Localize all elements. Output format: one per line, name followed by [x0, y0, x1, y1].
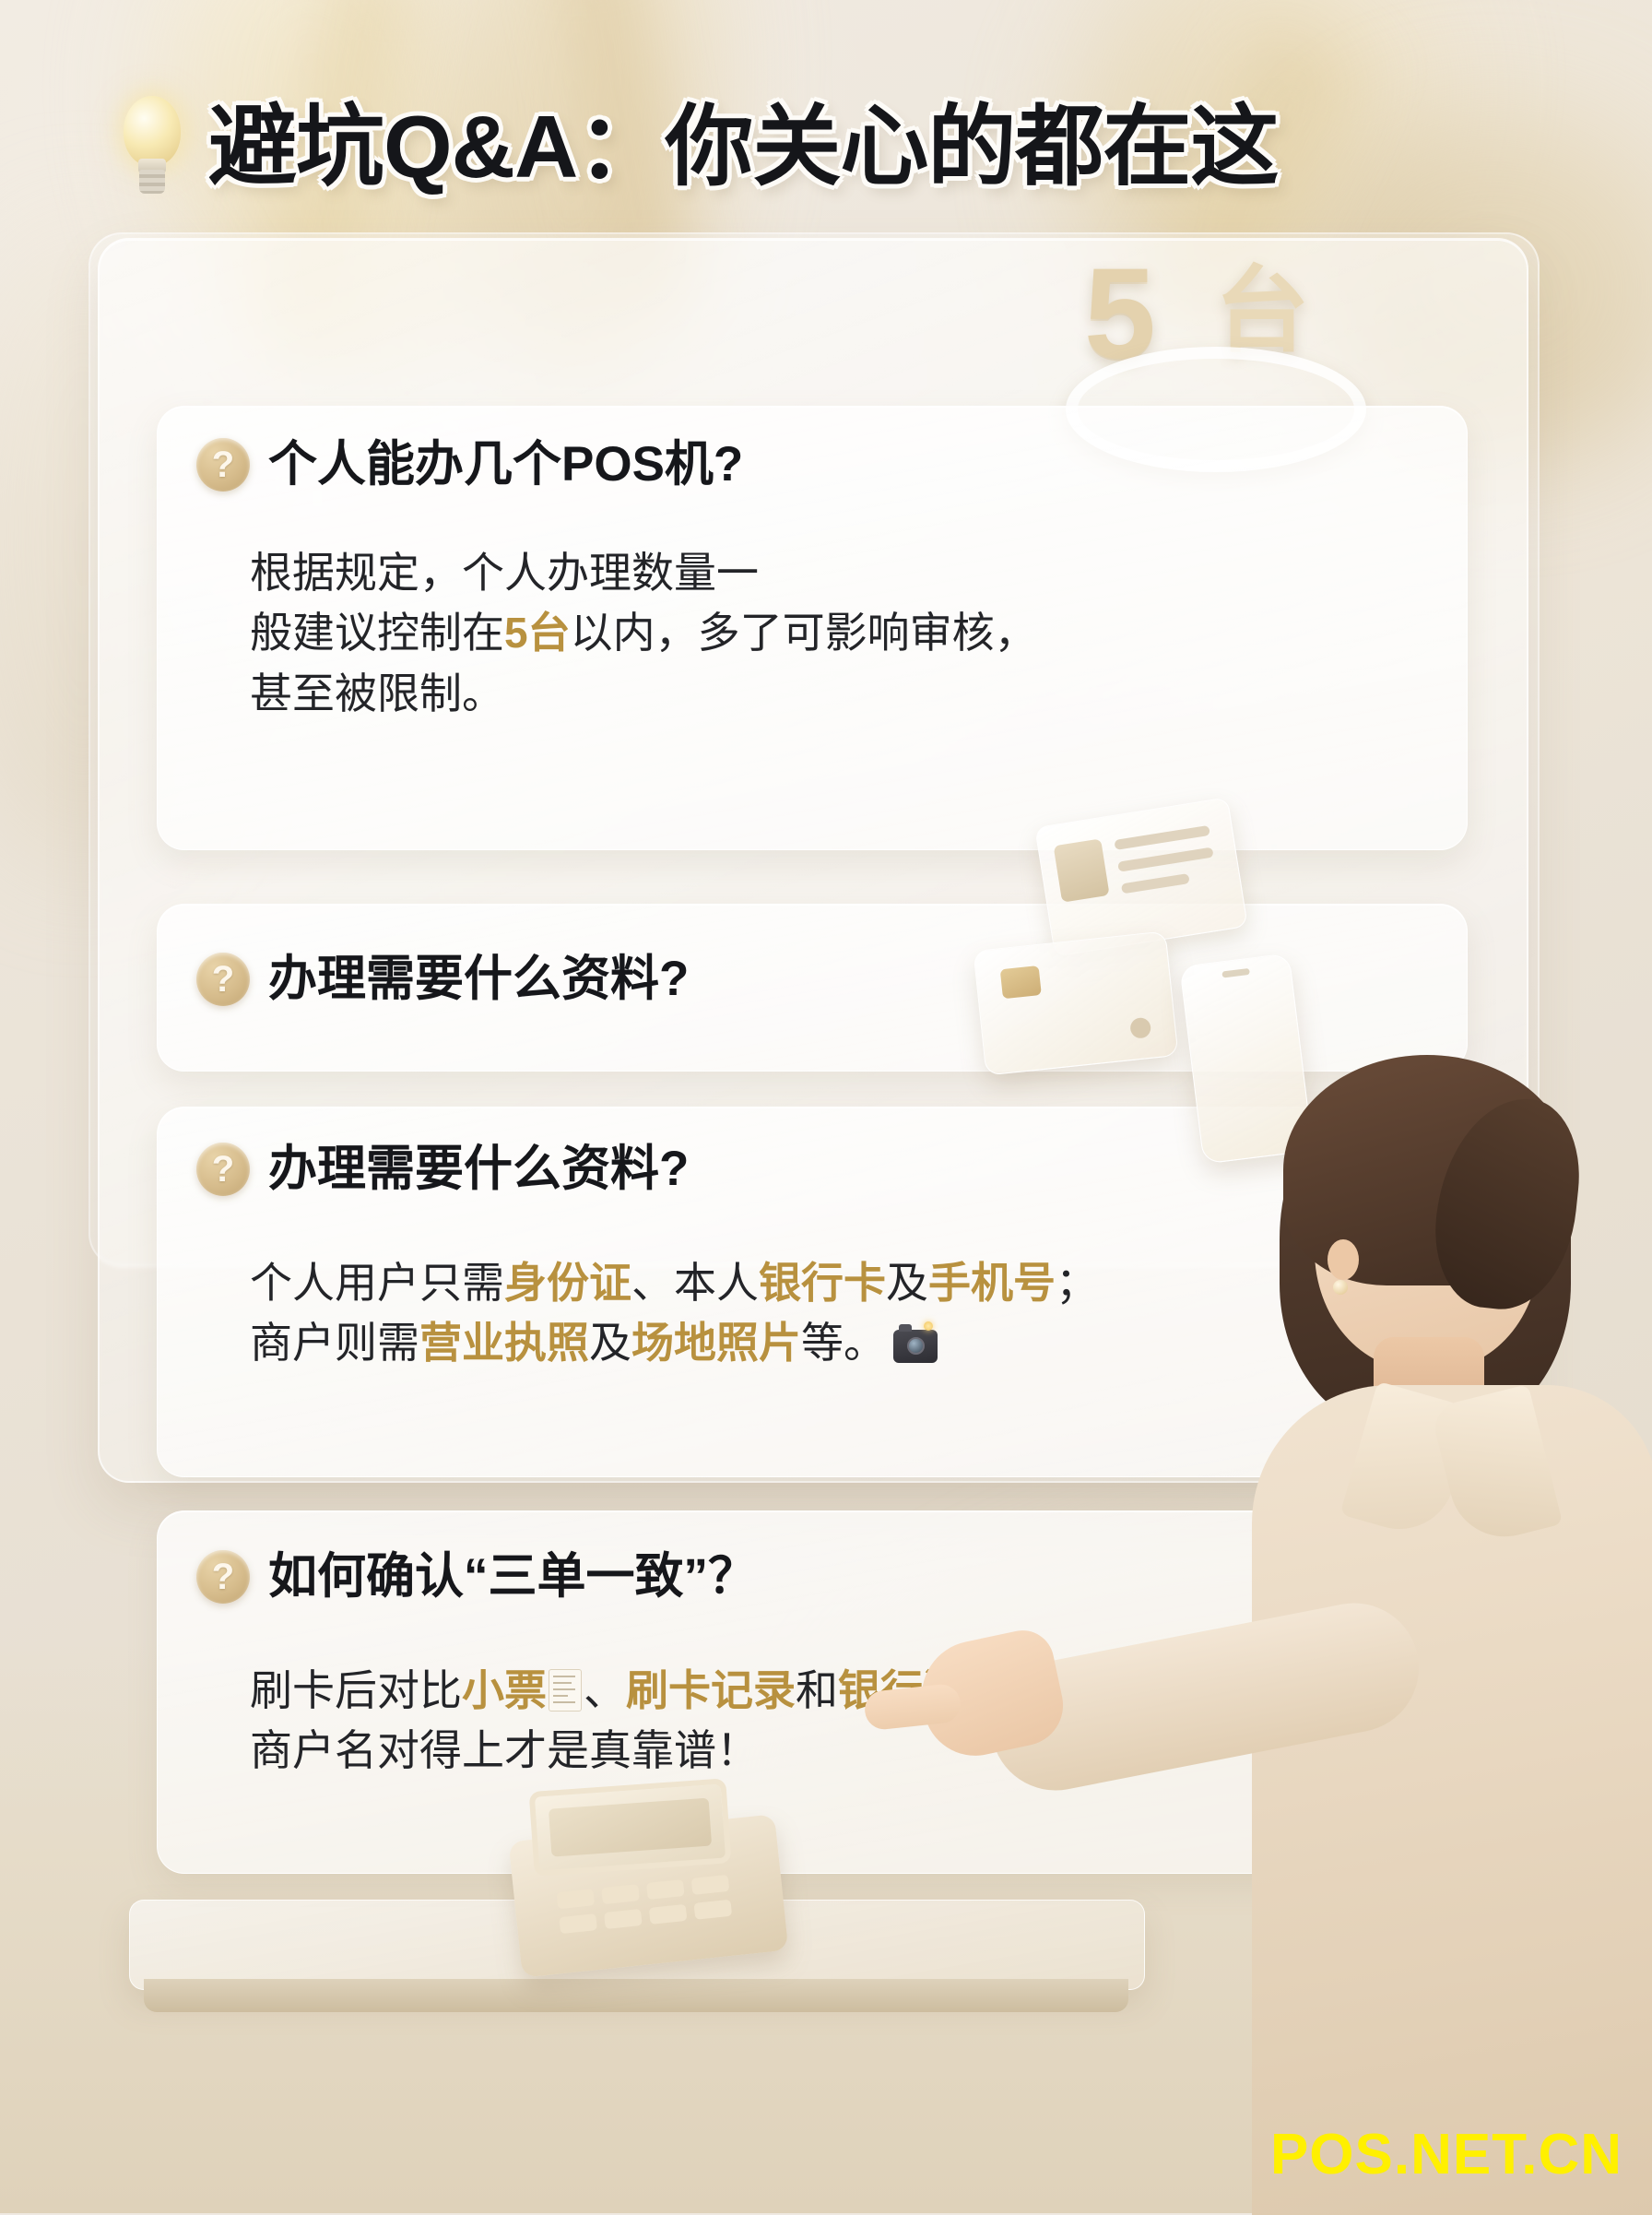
faq-question: 如何确认“三单一致”？ — [268, 1550, 757, 1604]
faq-answer: 根据规定，个人办理数量一般建议控制在5台以内，多了可影响审核，甚至被限制。 — [250, 543, 1037, 724]
pos-terminal — [503, 1766, 825, 1981]
answer-text: 及 — [886, 1259, 928, 1307]
faq-question-row: ? 如何确认“三单一致”？ — [196, 1550, 757, 1604]
character-illustration — [1226, 1042, 1652, 2213]
faq-card[interactable]: ? 个人能办几个POS机? 根据规定，个人办理数量一般建议控制在5台以内，多了可… — [157, 406, 1468, 850]
highlighted-term: 银行卡 — [759, 1259, 886, 1307]
page-header: 避坑Q&A：你关心的都在这 — [118, 96, 1278, 199]
answer-text: 及 — [589, 1319, 631, 1367]
answer-text: 、 — [584, 1666, 626, 1714]
five-unit-label: 台 — [1215, 264, 1309, 358]
highlighted-term: 身份证 — [504, 1259, 631, 1307]
pos-screen — [529, 1778, 732, 1877]
watermark: POS.NET.CN — [1270, 2122, 1622, 2187]
answer-line: 根据规定，个人办理数量一 — [250, 543, 1037, 603]
character-body — [1252, 1385, 1652, 2215]
answer-text: 刷卡后对比 — [250, 1666, 462, 1714]
question-mark-icon: ? — [196, 1550, 250, 1604]
highlighted-term: 5台 — [504, 609, 571, 657]
camera-icon — [893, 1330, 938, 1363]
faq-answer: 个人用户只需身份证、本人银行卡及手机号；商户则需营业执照及场地照片等。 — [250, 1253, 1098, 1374]
earring — [1333, 1280, 1348, 1295]
answer-text: 和 — [796, 1666, 838, 1714]
faq-question: 办理需要什么资料? — [268, 953, 689, 1006]
contactless-dot — [1129, 1017, 1151, 1039]
portrait-placeholder — [1054, 838, 1110, 902]
answer-text: 个人用户只需 — [250, 1259, 504, 1307]
chip-icon — [1000, 965, 1042, 999]
answer-line: 甚至被限制。 — [250, 664, 1037, 724]
page-title: 避坑Q&A：你关心的都在这 — [208, 103, 1278, 192]
faq-question-row: ? 个人能办几个POS机? — [196, 438, 743, 492]
answer-line: 个人用户只需身份证、本人银行卡及手机号； — [250, 1253, 1098, 1313]
question-mark-icon: ? — [196, 1143, 250, 1196]
question-mark-icon: ? — [196, 953, 250, 1006]
answer-text: 等。 — [801, 1319, 886, 1367]
faq-question: 办理需要什么资料? — [268, 1143, 689, 1196]
receipt-icon — [549, 1669, 582, 1712]
answer-text: 般建议控制在 — [250, 609, 504, 657]
highlighted-term: 营业执照 — [419, 1319, 589, 1367]
answer-text: 根据规定，个人办理数量一 — [250, 549, 759, 597]
answer-text: 甚至被限制。 — [250, 669, 504, 717]
answer-text: 商户则需 — [250, 1319, 419, 1367]
answer-text: ； — [1056, 1259, 1098, 1307]
highlighted-term: 刷卡记录 — [626, 1666, 796, 1714]
highlighted-term: 手机号 — [928, 1259, 1056, 1307]
question-mark-icon: ? — [196, 438, 250, 492]
answer-text: 商户名对得上才是真靠谱！ — [250, 1726, 759, 1774]
answer-text: 、本人 — [631, 1259, 759, 1307]
answer-line: 商户则需营业执照及场地照片等。 — [250, 1313, 1098, 1373]
highlighted-term: 小票 — [462, 1666, 547, 1714]
answer-line: 般建议控制在5台以内，多了可影响审核， — [250, 603, 1037, 663]
faq-question-row: ? 办理需要什么资料? — [196, 1143, 689, 1196]
faq-question: 个人能办几个POS机? — [268, 438, 743, 492]
bank-card-3d-prop — [973, 930, 1178, 1075]
highlighted-term: 场地照片 — [631, 1319, 801, 1367]
faq-question-row: ? 办理需要什么资料? — [196, 953, 689, 1006]
answer-text: 以内，多了可影响审核， — [571, 609, 1037, 657]
lightbulb-icon — [118, 96, 186, 199]
